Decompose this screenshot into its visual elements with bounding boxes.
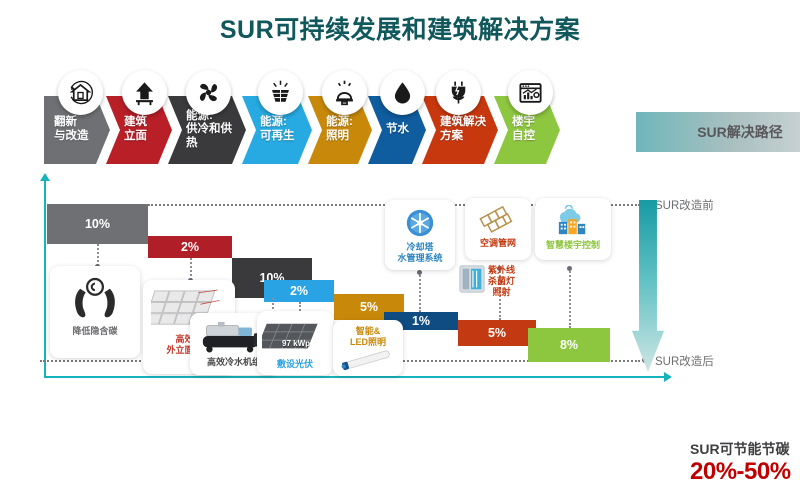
cooling-snowflake-icon bbox=[404, 206, 436, 240]
chevron-label: 节水 bbox=[386, 123, 409, 137]
solution-path-arrow: SUR解决路径 bbox=[636, 112, 800, 152]
savings-value: 20%-50% bbox=[690, 458, 791, 486]
card-led-lighting[interactable]: 智能& LED照明 bbox=[333, 320, 403, 376]
uv-annotation-label: 紫外线 杀菌灯 照射 bbox=[488, 265, 515, 297]
connector-line bbox=[419, 272, 421, 312]
kwp-annotation: 97 kWp bbox=[282, 339, 310, 348]
cloud-buildings-icon bbox=[551, 204, 595, 238]
card-label: 冷却塔 水管理系统 bbox=[397, 242, 442, 264]
connector-line bbox=[190, 258, 192, 280]
baseline-before-label: SUR改造前 bbox=[655, 197, 714, 213]
bar-photovoltaic[interactable]: 2% bbox=[264, 280, 334, 302]
waterfall-chart: SUR改造前 SUR改造后 10% 2% 10% 2% 5% 1% 5% 8% bbox=[40, 180, 760, 405]
chart-y-axis bbox=[44, 180, 46, 378]
fan-icon bbox=[186, 70, 231, 115]
bar-hvac-ducting[interactable]: 5% bbox=[458, 320, 536, 346]
connector-dot bbox=[567, 266, 572, 271]
card-cooling-tower-water[interactable]: 冷却塔 水管理系统 bbox=[385, 200, 455, 270]
lamp-icon bbox=[322, 70, 367, 115]
card-photovoltaic[interactable]: 97 kWp 敷设光伏 bbox=[257, 311, 333, 375]
bar-value: 5% bbox=[488, 326, 506, 340]
solution-path-label: SUR解决路径 bbox=[697, 122, 783, 142]
house-refresh-icon bbox=[58, 70, 103, 115]
bar-facade-design[interactable]: 2% bbox=[148, 236, 232, 258]
connector-line bbox=[569, 268, 571, 328]
bar-value: 10% bbox=[85, 217, 110, 231]
pv-array-icon: 97 kWp bbox=[262, 317, 328, 357]
bar-value: 5% bbox=[360, 300, 378, 314]
water-drop-icon bbox=[380, 70, 425, 115]
facade-arrow-icon bbox=[122, 70, 167, 115]
page-title: SUR可持续发展和建筑解决方案 bbox=[0, 10, 800, 46]
chart-x-axis bbox=[45, 376, 665, 378]
connector-dot bbox=[417, 270, 422, 275]
bar-smart-building-control[interactable]: 8% bbox=[528, 328, 610, 362]
card-label: 敷设光伏 bbox=[277, 359, 313, 370]
chevron-label: 能源: 可再生 bbox=[260, 116, 295, 143]
chevron-label: 能源: 供冷和供 热 bbox=[186, 110, 232, 151]
savings-down-arrow bbox=[632, 200, 664, 372]
dashboard-icon bbox=[508, 70, 553, 115]
chevron-label: 能源: 照明 bbox=[326, 116, 353, 143]
card-label: 空调管网 bbox=[480, 238, 516, 249]
card-label: 智能& LED照明 bbox=[350, 326, 386, 348]
chevron-label: 建筑解决 方案 bbox=[440, 116, 486, 143]
duct-network-icon bbox=[479, 204, 517, 236]
bar-value: 2% bbox=[290, 284, 308, 298]
uv-sterilization-annotation: 紫外线 杀菌灯 照射 bbox=[458, 264, 515, 299]
uv-device-icon bbox=[458, 264, 486, 299]
card-hvac-ducting[interactable]: 空调管网 bbox=[465, 198, 531, 260]
chevron-label: 建筑 立面 bbox=[124, 116, 147, 143]
process-chevron-strip: 翻新 与改造 建筑 立面 能源: 供冷和供 热 bbox=[44, 96, 800, 164]
hands-carbon-icon bbox=[69, 272, 121, 324]
baseline-after-label: SUR改造后 bbox=[655, 353, 714, 369]
led-tube-icon bbox=[338, 349, 398, 371]
savings-title: SUR可节能节碳 bbox=[690, 439, 790, 459]
bar-value: 8% bbox=[560, 338, 578, 352]
card-label: 高效冷水机组 bbox=[207, 357, 261, 368]
solar-panel-icon bbox=[258, 70, 303, 115]
card-label: 降低隐含碳 bbox=[72, 326, 117, 337]
bar-value: 1% bbox=[412, 314, 430, 328]
bar-value: 2% bbox=[181, 240, 199, 254]
chevron-label: 翻新 与改造 bbox=[54, 116, 89, 143]
chevron-label: 楼宇 自控 bbox=[512, 116, 535, 143]
card-embodied-carbon[interactable]: 降低隐含碳 bbox=[50, 266, 140, 358]
card-label: 智慧楼宇控制 bbox=[546, 240, 600, 251]
connector-line bbox=[97, 244, 99, 266]
plug-plant-icon bbox=[436, 70, 481, 115]
bar-embodied-carbon[interactable]: 10% bbox=[47, 204, 148, 244]
card-smart-building-control[interactable]: 智慧楼宇控制 bbox=[535, 198, 611, 260]
